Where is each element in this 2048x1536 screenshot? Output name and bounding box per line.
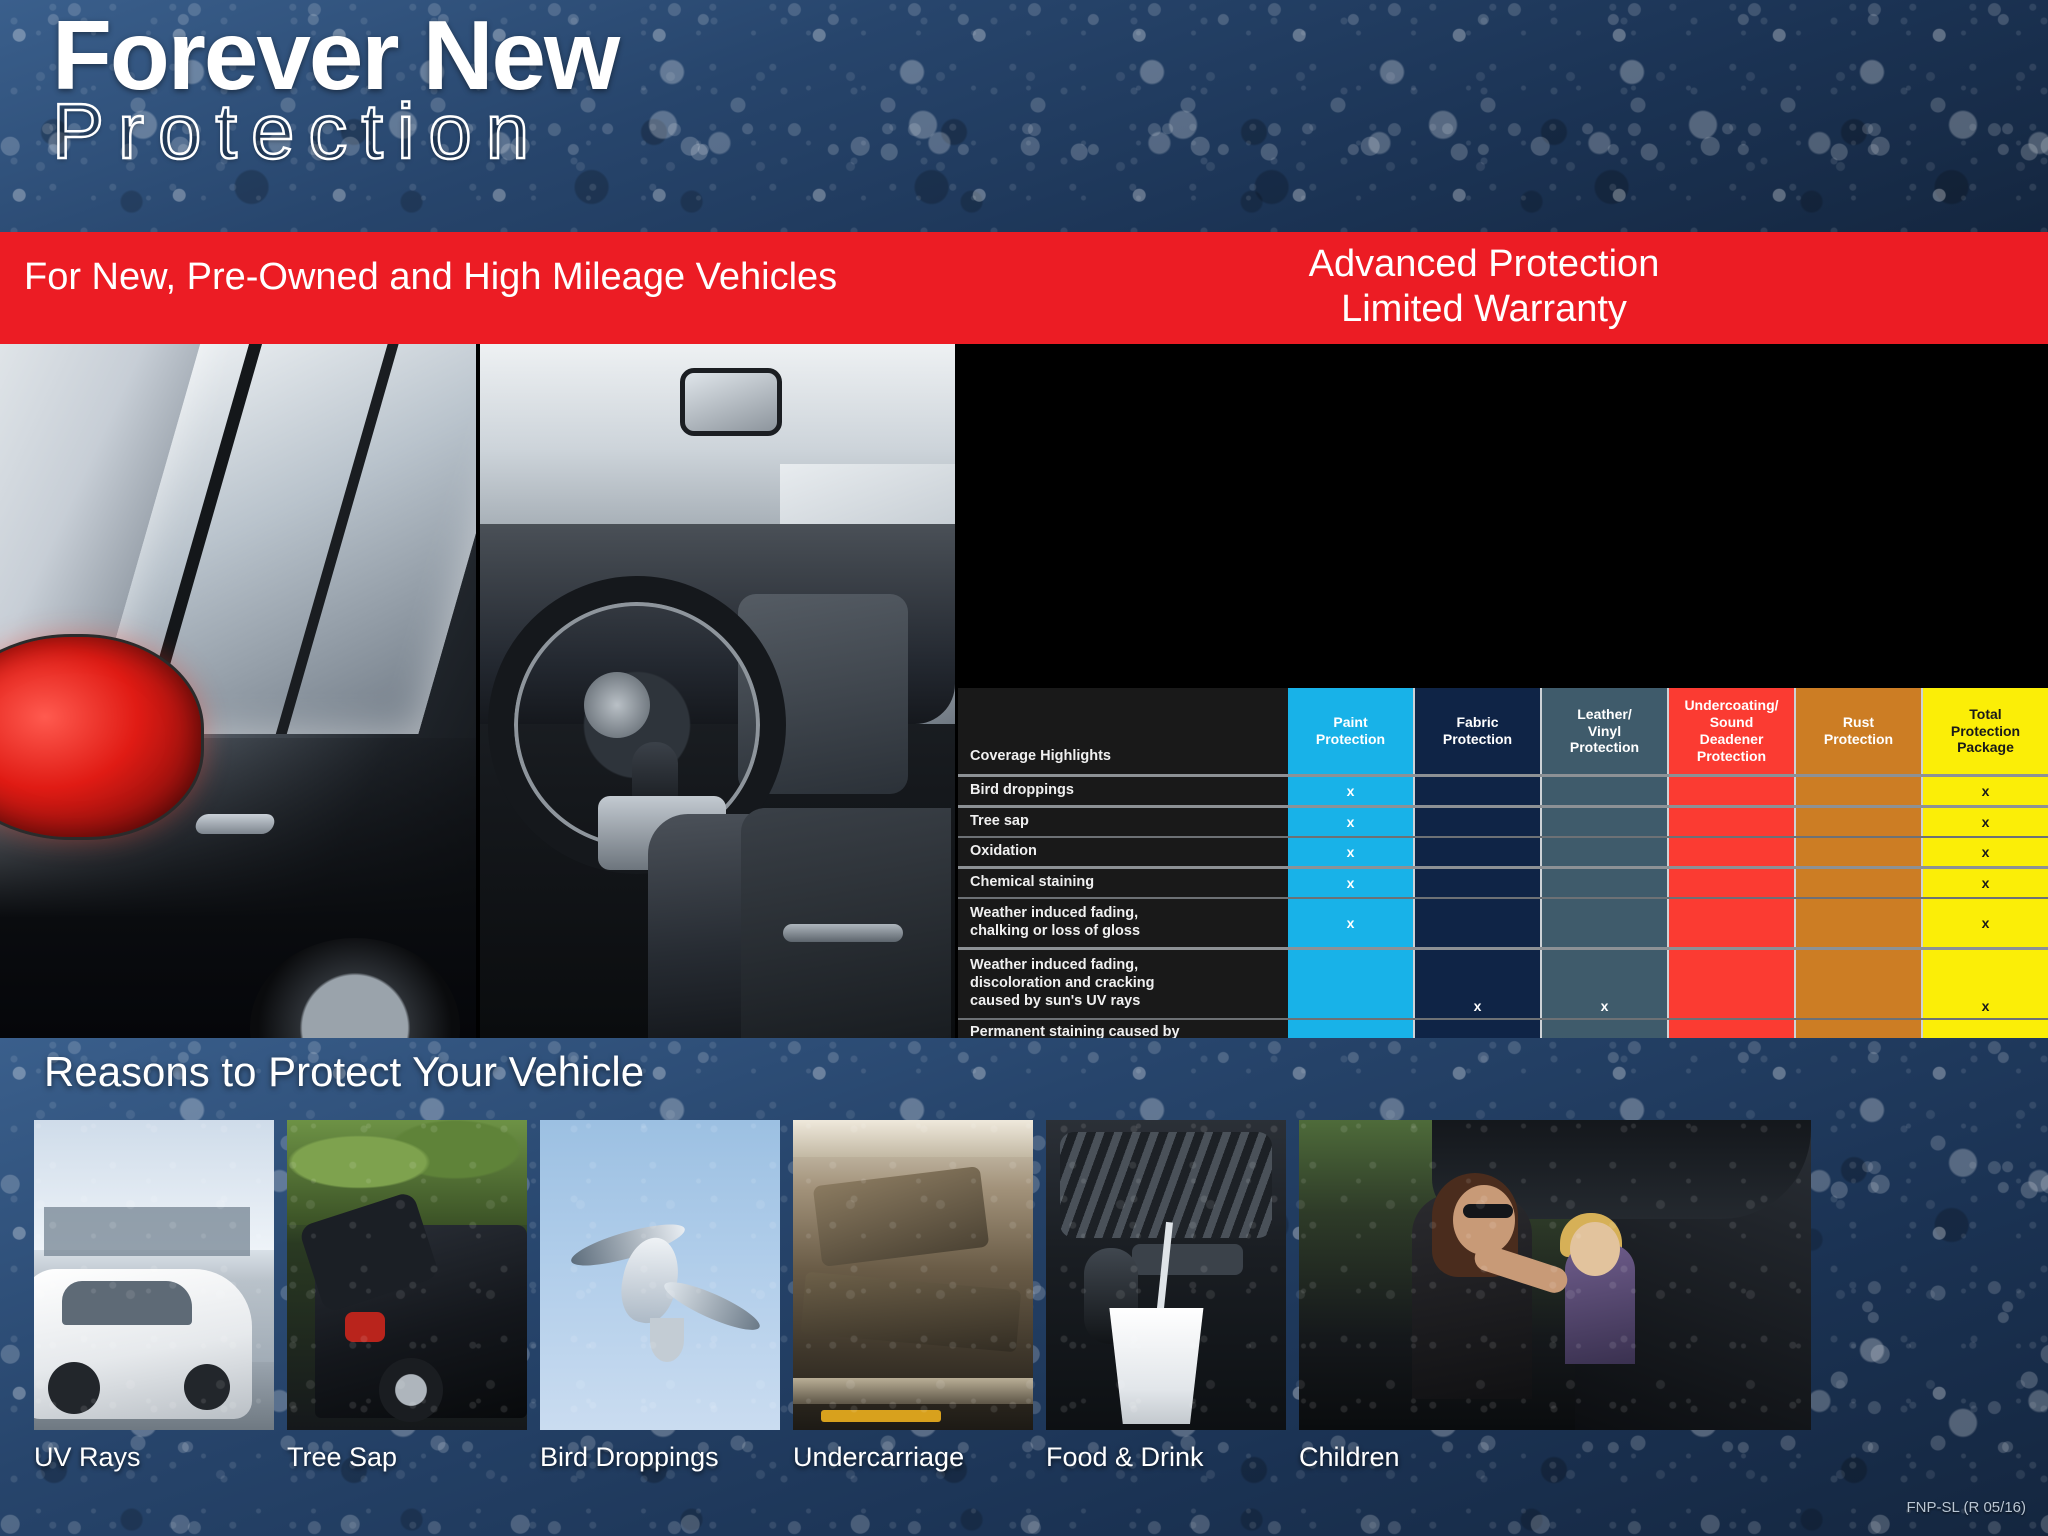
table-row: Bird droppingsxx — [958, 777, 2048, 805]
table-row: Tree sapxx — [958, 808, 2048, 836]
cell-leather — [1542, 808, 1669, 836]
warranty-title-line1: Advanced Protection — [1104, 242, 1864, 287]
checkmark-x: x — [1982, 998, 1990, 1014]
cell-fabric — [1415, 899, 1542, 947]
row-label: Weather induced fading,chalking or loss … — [958, 899, 1288, 947]
reason-tile-uv — [34, 1120, 274, 1430]
cell-paint: x — [1288, 899, 1415, 947]
reasons-section: Reasons to Protect Your Vehicle UV RaysT… — [0, 1038, 2048, 1536]
exterior-paint-illustration — [0, 344, 476, 1038]
table-row: Oxidationxx — [958, 838, 2048, 866]
bird-tail — [650, 1318, 684, 1362]
reason-caption-food: Food & Drink — [1046, 1442, 1204, 1473]
cell-rust — [1796, 808, 1923, 836]
checkmark-x: x — [1474, 998, 1482, 1014]
reason-tile-under — [793, 1120, 1033, 1430]
reason-tile-food — [1046, 1120, 1286, 1430]
column-header-undercoating: Undercoating/SoundDeadenerProtection — [1669, 688, 1796, 774]
control-knobs — [1132, 1244, 1242, 1275]
wheel-front — [48, 1362, 100, 1414]
row-label: Bird droppings — [958, 777, 1288, 805]
coverage-highlights-header: Coverage Highlights — [958, 688, 1288, 774]
cell-undercoating — [1669, 777, 1796, 805]
brand-name-line2: Protection — [52, 92, 618, 170]
cell-undercoating — [1669, 808, 1796, 836]
brand-logo: Forever New Protection — [52, 6, 618, 170]
checkmark-x: x — [1347, 814, 1355, 830]
reason-caption-uv: UV Rays — [34, 1442, 141, 1473]
cell-paint: x — [1288, 838, 1415, 866]
document-code: FNP-SL (R 05/16) — [1907, 1499, 2026, 1516]
reason-caption-under: Undercarriage — [793, 1442, 964, 1473]
row-label: Chemical staining — [958, 869, 1288, 897]
table-row: Chemical stainingxx — [958, 869, 2048, 897]
wheel-rear — [184, 1364, 230, 1410]
interior-door-handle — [783, 924, 903, 942]
cell-total: x — [1923, 869, 2048, 897]
door-handle — [194, 814, 277, 834]
column-header-fabric: FabricProtection — [1415, 688, 1542, 774]
reason-caption-kids: Children — [1299, 1442, 1400, 1473]
checkmark-x: x — [1982, 915, 1990, 931]
yellow-marker — [821, 1410, 941, 1422]
cell-total: x — [1923, 838, 2048, 866]
checkmark-x: x — [1601, 998, 1609, 1014]
reason-tile-bird — [540, 1120, 780, 1430]
cell-rust — [1796, 838, 1923, 866]
checkmark-x: x — [1982, 783, 1990, 799]
cell-leather — [1542, 838, 1669, 866]
brochure-page: Forever New Protection For New, Pre-Owne… — [0, 0, 2048, 1536]
cell-fabric — [1415, 869, 1542, 897]
photo-vehicle-interior — [480, 344, 955, 1038]
cell-paint: x — [1288, 808, 1415, 836]
side-mirror — [680, 368, 782, 436]
cargo-item — [345, 1312, 385, 1342]
suv-window — [62, 1281, 192, 1325]
column-header-paint: PaintProtection — [1288, 688, 1415, 774]
red-headline-band: For New, Pre-Owned and High Mileage Vehi… — [0, 232, 2048, 344]
warranty-title: Advanced Protection Limited Warranty — [1104, 242, 1864, 332]
column-header-rust: RustProtection — [1796, 688, 1923, 774]
cell-rust — [1796, 869, 1923, 897]
cell-leather — [1542, 899, 1669, 947]
header-banner: Forever New Protection — [0, 0, 2048, 232]
cell-total: x — [1923, 899, 2048, 947]
table-row: Weather induced fading,chalking or loss … — [958, 899, 2048, 947]
cell-total: x — [1923, 950, 2048, 1018]
building — [44, 1207, 250, 1257]
row-label: Oxidation — [958, 838, 1288, 866]
reasons-title: Reasons to Protect Your Vehicle — [44, 1048, 644, 1096]
cell-fabric — [1415, 838, 1542, 866]
cell-fabric — [1415, 808, 1542, 836]
cell-paint: x — [1288, 777, 1415, 805]
reason-caption-tree: Tree Sap — [287, 1442, 397, 1473]
checkmark-x: x — [1982, 875, 1990, 891]
reason-caption-bird: Bird Droppings — [540, 1442, 719, 1473]
cell-paint: x — [1288, 869, 1415, 897]
row-label: Tree sap — [958, 808, 1288, 836]
cell-fabric: x — [1415, 950, 1542, 1018]
cell-leather — [1542, 777, 1669, 805]
interior-cabin-illustration — [480, 344, 955, 1038]
cell-fabric — [1415, 777, 1542, 805]
wheel — [379, 1358, 443, 1422]
cell-undercoating — [1669, 838, 1796, 866]
photo-vehicle-exterior — [0, 344, 476, 1038]
reason-tile-tree — [287, 1120, 527, 1430]
table-row: Weather induced fading,discoloration and… — [958, 950, 2048, 1018]
cell-undercoating — [1669, 869, 1796, 897]
cell-rust — [1796, 899, 1923, 947]
cell-leather — [1542, 869, 1669, 897]
drink-cup — [1100, 1308, 1212, 1424]
frame-beam — [813, 1166, 990, 1266]
checkmark-x: x — [1347, 783, 1355, 799]
checkmark-x: x — [1982, 814, 1990, 830]
vehicle-eligibility-text: For New, Pre-Owned and High Mileage Vehi… — [24, 256, 837, 299]
column-header-total: TotalProtectionPackage — [1923, 688, 2048, 774]
cell-total: x — [1923, 808, 2048, 836]
column-header-leather: Leather/VinylProtection — [1542, 688, 1669, 774]
undercarriage-rail — [793, 1378, 1033, 1404]
cell-undercoating — [1669, 899, 1796, 947]
checkmark-x: x — [1347, 844, 1355, 860]
frame-beam-lower — [800, 1272, 1021, 1353]
table-header-row: Coverage HighlightsPaintProtectionFabric… — [958, 688, 2048, 774]
row-label: Weather induced fading,discoloration and… — [958, 950, 1288, 1018]
upper-surface — [793, 1120, 1033, 1157]
cell-leather: x — [1542, 950, 1669, 1018]
sunglasses-icon — [1463, 1204, 1513, 1218]
cell-undercoating — [1669, 950, 1796, 1018]
checkmark-x: x — [1347, 875, 1355, 891]
checkmark-x: x — [1982, 844, 1990, 860]
cell-rust — [1796, 950, 1923, 1018]
cell-paint — [1288, 950, 1415, 1018]
warranty-title-line2: Limited Warranty — [1104, 287, 1864, 332]
reason-tile-kids — [1299, 1120, 1811, 1430]
cell-total: x — [1923, 777, 2048, 805]
door-panel — [741, 808, 951, 1038]
checkmark-x: x — [1347, 915, 1355, 931]
cell-rust — [1796, 777, 1923, 805]
mid-section: Coverage HighlightsPaintProtectionFabric… — [0, 344, 2048, 1038]
